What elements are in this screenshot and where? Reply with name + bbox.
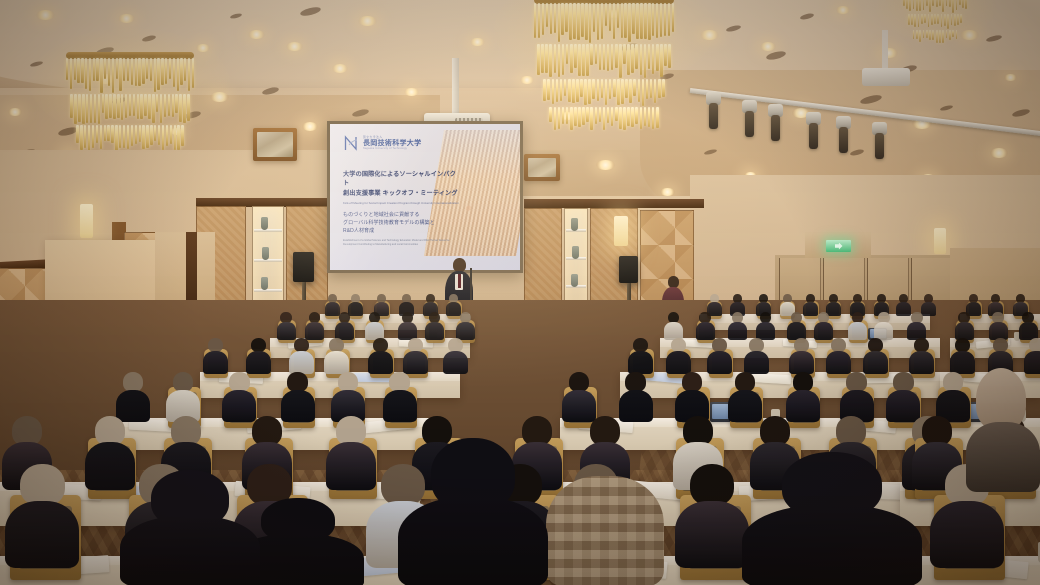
chandelier-rod bbox=[941, 14, 943, 28]
chandelier-rod bbox=[127, 125, 129, 148]
university-logo-mark bbox=[344, 135, 359, 152]
chandelier-rod bbox=[928, 14, 930, 28]
chandelier-rod bbox=[956, 30, 958, 39]
chandelier-rod bbox=[172, 94, 174, 117]
chandelier-rod bbox=[119, 125, 121, 148]
audience-member-64 bbox=[675, 372, 709, 422]
chandelier-rod bbox=[113, 94, 115, 119]
chandelier-rod bbox=[556, 79, 559, 102]
chandelier-rod bbox=[582, 107, 585, 125]
audience-torso-38 bbox=[203, 351, 228, 374]
chandelier-rod bbox=[537, 44, 540, 75]
downlight-8 bbox=[210, 92, 229, 102]
chandelier-rod bbox=[607, 44, 610, 71]
audience-member-41 bbox=[324, 338, 349, 374]
audience-member-19 bbox=[277, 312, 296, 340]
audience-member-69 bbox=[936, 372, 970, 422]
chandelier-rod bbox=[662, 79, 665, 96]
chandelier-rod bbox=[595, 107, 598, 124]
chandelier-rod bbox=[934, 14, 936, 25]
chandelier-rod bbox=[648, 107, 651, 126]
chandelier-rod bbox=[590, 44, 593, 65]
audience-foreground-3 bbox=[398, 438, 548, 585]
audience-torso-47 bbox=[707, 351, 732, 374]
chandelier-rod-row bbox=[534, 107, 674, 130]
chandelier-rod bbox=[911, 14, 913, 26]
chandelier-rod-row bbox=[66, 125, 194, 150]
chandelier-rod bbox=[541, 44, 544, 73]
chandelier-rod bbox=[568, 79, 571, 101]
chandelier-rod bbox=[102, 94, 104, 113]
chandelier-rod bbox=[569, 3, 571, 40]
audience-member-50 bbox=[826, 338, 851, 374]
chandelier-rod bbox=[578, 107, 581, 127]
chandelier-rod bbox=[589, 3, 591, 43]
chandelier-rod bbox=[116, 58, 118, 79]
chandelier-rod bbox=[918, 14, 920, 27]
audience-torso-48 bbox=[744, 351, 769, 374]
audience-member-32 bbox=[848, 312, 867, 340]
chandelier-rod bbox=[584, 79, 587, 104]
audience-torso-91 bbox=[675, 501, 749, 568]
chandelier-rod bbox=[574, 44, 577, 68]
chandelier-rod bbox=[672, 3, 674, 32]
chandelier-rod bbox=[632, 3, 634, 34]
slide-title-sub: Kick-off Meeting for Social Impact Creat… bbox=[343, 201, 461, 206]
spotlight-body-4 bbox=[839, 127, 848, 153]
chandelier-rod bbox=[562, 44, 565, 75]
audience-member-33 bbox=[874, 312, 893, 340]
chandelier-rod bbox=[656, 3, 658, 38]
chandelier-rod bbox=[652, 107, 655, 129]
audience-member-43 bbox=[403, 338, 428, 374]
audience-member-42 bbox=[368, 338, 393, 374]
chandelier-rod bbox=[547, 79, 550, 100]
audience-torso-43 bbox=[403, 351, 428, 374]
chandelier-rod bbox=[595, 44, 598, 64]
audience-member-56 bbox=[116, 372, 150, 422]
audience-member-35 bbox=[955, 312, 974, 340]
chandelier-rod bbox=[962, 0, 964, 8]
chandelier-rod bbox=[937, 14, 939, 25]
chandelier-rod bbox=[603, 44, 606, 70]
chandelier-rod bbox=[144, 94, 146, 116]
chandelier-rod bbox=[924, 14, 926, 23]
downlight-26 bbox=[302, 122, 318, 131]
slide-title-line-1: 大学の国際化によるソーシャルインパクト bbox=[343, 170, 461, 189]
downlight-15 bbox=[700, 30, 719, 40]
audience-torso-40 bbox=[289, 351, 314, 374]
chandelier-rod bbox=[946, 30, 948, 38]
chandelier-rod bbox=[96, 125, 98, 143]
audience-torso-93 bbox=[930, 501, 1004, 568]
chandelier-rod bbox=[965, 0, 967, 9]
chandelier-rod bbox=[150, 125, 152, 145]
audience-member-20 bbox=[305, 312, 324, 340]
hijab-torso bbox=[966, 422, 1040, 492]
chandelier-rod bbox=[936, 30, 938, 43]
chandelier-rod bbox=[566, 107, 569, 124]
downlight-0 bbox=[36, 10, 55, 20]
chandelier-rod bbox=[104, 58, 106, 79]
chandelier-rod bbox=[621, 79, 624, 103]
chandelier-rod bbox=[104, 125, 106, 141]
chandelier-rod bbox=[628, 3, 630, 42]
chandelier-rod bbox=[611, 107, 614, 126]
chandelier-rod bbox=[601, 3, 603, 39]
chandelier-rod bbox=[635, 107, 638, 124]
chandelier-rod bbox=[916, 30, 918, 39]
chandelier-rod bbox=[936, 0, 938, 7]
chandelier-rod bbox=[81, 58, 83, 83]
chandelier-rod bbox=[181, 125, 183, 146]
chandelier-rod bbox=[125, 94, 127, 118]
audience-torso-46 bbox=[666, 351, 691, 374]
chandelier-rod-row bbox=[66, 58, 194, 93]
chandelier-rod bbox=[601, 79, 604, 98]
chandelier-rod bbox=[644, 44, 647, 78]
chandelier-rod bbox=[640, 44, 643, 75]
chandelier-rod bbox=[98, 94, 100, 124]
chandelier-rod bbox=[605, 79, 608, 105]
chandelier-rod bbox=[119, 58, 121, 91]
chandelier-rod bbox=[554, 44, 557, 73]
downlight-24 bbox=[660, 188, 675, 196]
chandelier-rod bbox=[660, 3, 662, 37]
chandelier-rod bbox=[664, 3, 666, 36]
chandelier-rod bbox=[133, 94, 135, 116]
chandelier-rod bbox=[939, 0, 941, 6]
audience-member-58 bbox=[222, 372, 256, 422]
audience-torso-24 bbox=[425, 322, 444, 340]
chandelier-rod bbox=[947, 14, 949, 29]
chandelier-rod bbox=[187, 94, 189, 121]
pa-speaker-left bbox=[293, 252, 314, 282]
wall-sconce-right bbox=[614, 216, 628, 246]
spotlight-body-2 bbox=[771, 115, 780, 141]
chandelier-rod bbox=[115, 125, 117, 150]
chandelier-rod bbox=[543, 79, 546, 101]
chandelier-rod bbox=[609, 79, 612, 98]
chandelier-rod bbox=[170, 125, 172, 143]
chandelier-rod bbox=[549, 44, 552, 77]
chandelier-rod bbox=[146, 58, 148, 79]
pa-speaker-right bbox=[619, 256, 638, 283]
chandelier-rod-row bbox=[900, 14, 970, 29]
chandelier-rod bbox=[90, 94, 92, 123]
chandelier-rod bbox=[70, 94, 72, 118]
chandelier-rod bbox=[558, 3, 560, 42]
chandelier-rod bbox=[588, 79, 591, 103]
audience-member-59 bbox=[281, 372, 315, 422]
chandelier-rod bbox=[162, 125, 164, 149]
chandelier-rod bbox=[607, 107, 610, 123]
chandelier-rod bbox=[94, 94, 96, 123]
chandelier-rod bbox=[660, 44, 663, 77]
chandelier-rod bbox=[603, 107, 606, 130]
chandelier-rod bbox=[131, 58, 133, 85]
audience-torso-51 bbox=[863, 351, 888, 374]
audience-member-39 bbox=[246, 338, 271, 374]
chandelier-rod bbox=[951, 14, 953, 26]
chandelier-rod bbox=[135, 58, 137, 86]
chandelier-rod bbox=[625, 79, 628, 98]
logo-small-ja: 国立大学法人 bbox=[363, 137, 421, 140]
chandelier-rod bbox=[70, 58, 72, 89]
chandelier-rod bbox=[534, 3, 536, 38]
chandelier-rod bbox=[578, 44, 581, 76]
chandelier-rod bbox=[107, 125, 109, 141]
chandelier-rod bbox=[105, 94, 107, 119]
chandelier-rod bbox=[148, 94, 150, 119]
audience-member-52 bbox=[909, 338, 934, 374]
chandelier-rod bbox=[959, 0, 961, 5]
emergency-exit-sign bbox=[826, 240, 851, 252]
audience-member-51 bbox=[863, 338, 888, 374]
chandelier-right bbox=[534, 0, 674, 54]
microphone-stand bbox=[470, 268, 472, 302]
chandelier-rod bbox=[554, 3, 556, 33]
chandelier-rod bbox=[74, 58, 76, 80]
logo-en: Nagaoka University of Technology bbox=[363, 148, 421, 150]
audience-member-34 bbox=[907, 312, 926, 340]
audience-member-60 bbox=[331, 372, 365, 422]
chandelier-rod bbox=[542, 3, 544, 35]
chandelier-rod bbox=[593, 3, 595, 32]
audience-torso-39 bbox=[246, 351, 271, 374]
chair-rail-right bbox=[524, 199, 704, 208]
chandelier-rod bbox=[180, 58, 182, 85]
audience-foreground-torso-1 bbox=[742, 505, 922, 585]
spotlight-body-3 bbox=[809, 123, 818, 149]
chandelier-rod bbox=[112, 58, 114, 93]
chandelier-rod bbox=[92, 125, 94, 147]
chandelier-rod bbox=[138, 58, 140, 86]
chandelier-rod bbox=[931, 14, 933, 25]
chandelier-rod bbox=[613, 79, 616, 97]
chandelier-rod bbox=[658, 79, 661, 97]
chandelier-rod bbox=[84, 125, 86, 148]
audience-member-24 bbox=[425, 312, 444, 340]
chandelier-rod bbox=[929, 0, 931, 12]
chandelier-rod bbox=[656, 44, 659, 71]
slide-title-line-2: 創出支援事業 キックオフ・ミーティング bbox=[343, 189, 461, 198]
chandelier-rod bbox=[923, 30, 925, 39]
audience-member-22 bbox=[365, 312, 384, 340]
projector-mount-stem bbox=[452, 58, 459, 116]
chandelier-rod bbox=[74, 94, 76, 124]
chandelier-rod bbox=[174, 125, 176, 149]
spotlight-body-0 bbox=[709, 103, 718, 129]
slide-body: ものづくりと地域社会に貢献する グローバル科学技術教育モデルの構築と R&D人材… bbox=[343, 212, 459, 247]
chandelier-rod bbox=[914, 14, 916, 28]
chandelier-rod bbox=[100, 125, 102, 149]
chandelier-rod bbox=[619, 107, 622, 129]
audience-member-26 bbox=[664, 312, 683, 340]
projector-mount-stem-2 bbox=[882, 30, 888, 72]
chandelier-rod-row bbox=[900, 0, 970, 13]
downlight-2 bbox=[196, 44, 210, 52]
audience-member-62 bbox=[562, 372, 596, 422]
chandelier-rod bbox=[139, 125, 141, 142]
chandelier-rod bbox=[157, 58, 159, 90]
downlight-17 bbox=[836, 6, 850, 14]
chandelier-rod bbox=[615, 44, 618, 68]
audience-member-31 bbox=[814, 312, 833, 340]
downlight-13 bbox=[404, 88, 419, 96]
chandelier-rod-row bbox=[534, 79, 674, 106]
chandelier-rod bbox=[123, 125, 125, 148]
projection-screen: 国立大学法人 長岡技術科学大学 Nagaoka University of Te… bbox=[327, 121, 523, 273]
chandelier-rod bbox=[561, 3, 563, 35]
chandelier-rod bbox=[164, 94, 166, 117]
chandelier-rod bbox=[545, 44, 548, 73]
chandelier-rod bbox=[572, 79, 575, 103]
chandelier-rod bbox=[129, 94, 131, 116]
chandelier-rod bbox=[952, 0, 954, 13]
chandelier-rod bbox=[668, 44, 671, 68]
chandelier-rod bbox=[538, 3, 540, 38]
chandelier-rod bbox=[183, 94, 185, 123]
chandelier-rod bbox=[635, 44, 638, 69]
audience-member-85 bbox=[5, 464, 79, 568]
audience-torso-44 bbox=[443, 351, 468, 374]
chandelier-rod bbox=[954, 14, 956, 26]
chandelier-rod bbox=[909, 0, 911, 11]
chandelier-rod bbox=[903, 0, 905, 6]
chandelier-rod bbox=[926, 30, 928, 38]
chandelier-rod bbox=[599, 107, 602, 122]
chandelier-rod bbox=[946, 0, 948, 6]
audience-member-65 bbox=[728, 372, 762, 422]
audience-member-49 bbox=[789, 338, 814, 374]
logo-ja: 長岡技術科学大学 bbox=[363, 140, 421, 147]
audience-member-45 bbox=[628, 338, 653, 374]
chandelier-rod bbox=[142, 58, 144, 84]
chandelier-rod bbox=[592, 79, 595, 99]
chandelier-rod bbox=[574, 107, 577, 126]
chandelier-rod bbox=[623, 107, 626, 130]
audience-member-66 bbox=[786, 372, 820, 422]
chandelier-rod bbox=[570, 107, 573, 129]
chandelier-rod bbox=[916, 0, 918, 11]
audience-member-67 bbox=[840, 372, 874, 422]
chandelier-rod bbox=[624, 3, 626, 38]
chandelier-rod bbox=[100, 58, 102, 93]
chandelier-rod bbox=[613, 3, 615, 39]
audience-member-30 bbox=[787, 312, 806, 340]
downlight-21 bbox=[1004, 74, 1017, 81]
chandelier-rod bbox=[640, 3, 642, 39]
slide-body-fine: Establishment of a Global Science and Te… bbox=[343, 239, 459, 247]
chandelier-rod bbox=[586, 44, 589, 76]
chandelier-rod bbox=[154, 58, 156, 92]
chandelier-rod bbox=[82, 94, 84, 124]
chandelier-rod bbox=[942, 30, 944, 44]
audience-member-hijab bbox=[966, 368, 1040, 488]
audience-member-36 bbox=[989, 312, 1008, 340]
wall-sconce-far-right bbox=[934, 228, 946, 254]
audience-foreground-2 bbox=[120, 470, 260, 585]
chandelier-rod bbox=[952, 30, 954, 38]
chandelier-rod bbox=[184, 58, 186, 81]
chandelier-rod-row bbox=[534, 3, 674, 43]
hijab-headscarf bbox=[976, 368, 1026, 430]
chandelier-rod bbox=[154, 125, 156, 140]
audience-member-38 bbox=[203, 338, 228, 374]
chandelier-rod bbox=[932, 30, 934, 41]
chandelier-rod bbox=[581, 3, 583, 37]
spotlight-body-1 bbox=[745, 111, 754, 137]
chandelier-rod-row bbox=[900, 30, 970, 44]
chandelier-rod bbox=[89, 58, 91, 91]
chandelier-rod bbox=[939, 30, 941, 43]
downlight-4 bbox=[8, 108, 22, 116]
chandelier-rod bbox=[944, 14, 946, 26]
slide-body-line-2: グローバル科学技術教育モデルの構築と bbox=[343, 220, 459, 228]
chandelier-rod bbox=[617, 3, 619, 28]
chandelier-rod bbox=[906, 0, 908, 9]
chandelier-rod bbox=[86, 94, 88, 123]
audience-foreground-torso-2 bbox=[120, 516, 260, 585]
chandelier-rod bbox=[135, 125, 137, 144]
chandelier-rod bbox=[137, 94, 139, 119]
chandelier-rod bbox=[558, 107, 561, 129]
chandelier-rod bbox=[668, 3, 670, 36]
downlight-33 bbox=[520, 76, 534, 84]
chandelier-rod bbox=[926, 0, 928, 6]
chandelier-rod bbox=[160, 94, 162, 123]
downlight-31 bbox=[990, 148, 1008, 158]
chandelier-rod bbox=[636, 3, 638, 39]
chandelier-rod-row bbox=[66, 94, 194, 124]
chandelier-rod bbox=[619, 44, 622, 78]
chandelier-rod bbox=[582, 44, 585, 76]
chandelier-rod bbox=[77, 58, 79, 83]
downlight-25 bbox=[596, 160, 615, 170]
chandelier-rod bbox=[597, 79, 600, 101]
downlight-11 bbox=[470, 38, 485, 46]
chandelier-rod bbox=[913, 0, 915, 9]
audience-member-57 bbox=[166, 372, 200, 422]
audience-torso-42 bbox=[368, 351, 393, 374]
chandelier-rod bbox=[549, 107, 552, 122]
chandelier-rod bbox=[623, 44, 626, 64]
chandelier-rod bbox=[597, 3, 599, 40]
chandelier-rod bbox=[921, 14, 923, 25]
audience-member-21 bbox=[335, 312, 354, 340]
audience-member-37 bbox=[1019, 312, 1038, 340]
chandelier-rod bbox=[550, 3, 552, 34]
chandelier-rod bbox=[956, 0, 958, 10]
chandelier-rod bbox=[590, 107, 593, 130]
chandelier-rod bbox=[566, 44, 569, 64]
slide-title: 大学の国際化によるソーシャルインパクト 創出支援事業 キックオフ・ミーティング … bbox=[343, 170, 461, 206]
chandelier-rod bbox=[919, 0, 921, 11]
plaid-jacket bbox=[546, 476, 664, 585]
chandelier-rod bbox=[552, 79, 555, 103]
chandelier-rod bbox=[640, 107, 643, 129]
chandelier-left bbox=[66, 52, 194, 104]
chandelier-rod bbox=[654, 79, 657, 103]
chandelier-rod bbox=[664, 44, 667, 66]
chandelier-rod bbox=[562, 107, 565, 124]
chandelier-rod bbox=[656, 107, 659, 128]
chandelier-rod bbox=[573, 3, 575, 39]
chandelier-rod bbox=[580, 79, 583, 96]
audience-torso-41 bbox=[324, 351, 349, 374]
downlight-7 bbox=[286, 42, 303, 51]
